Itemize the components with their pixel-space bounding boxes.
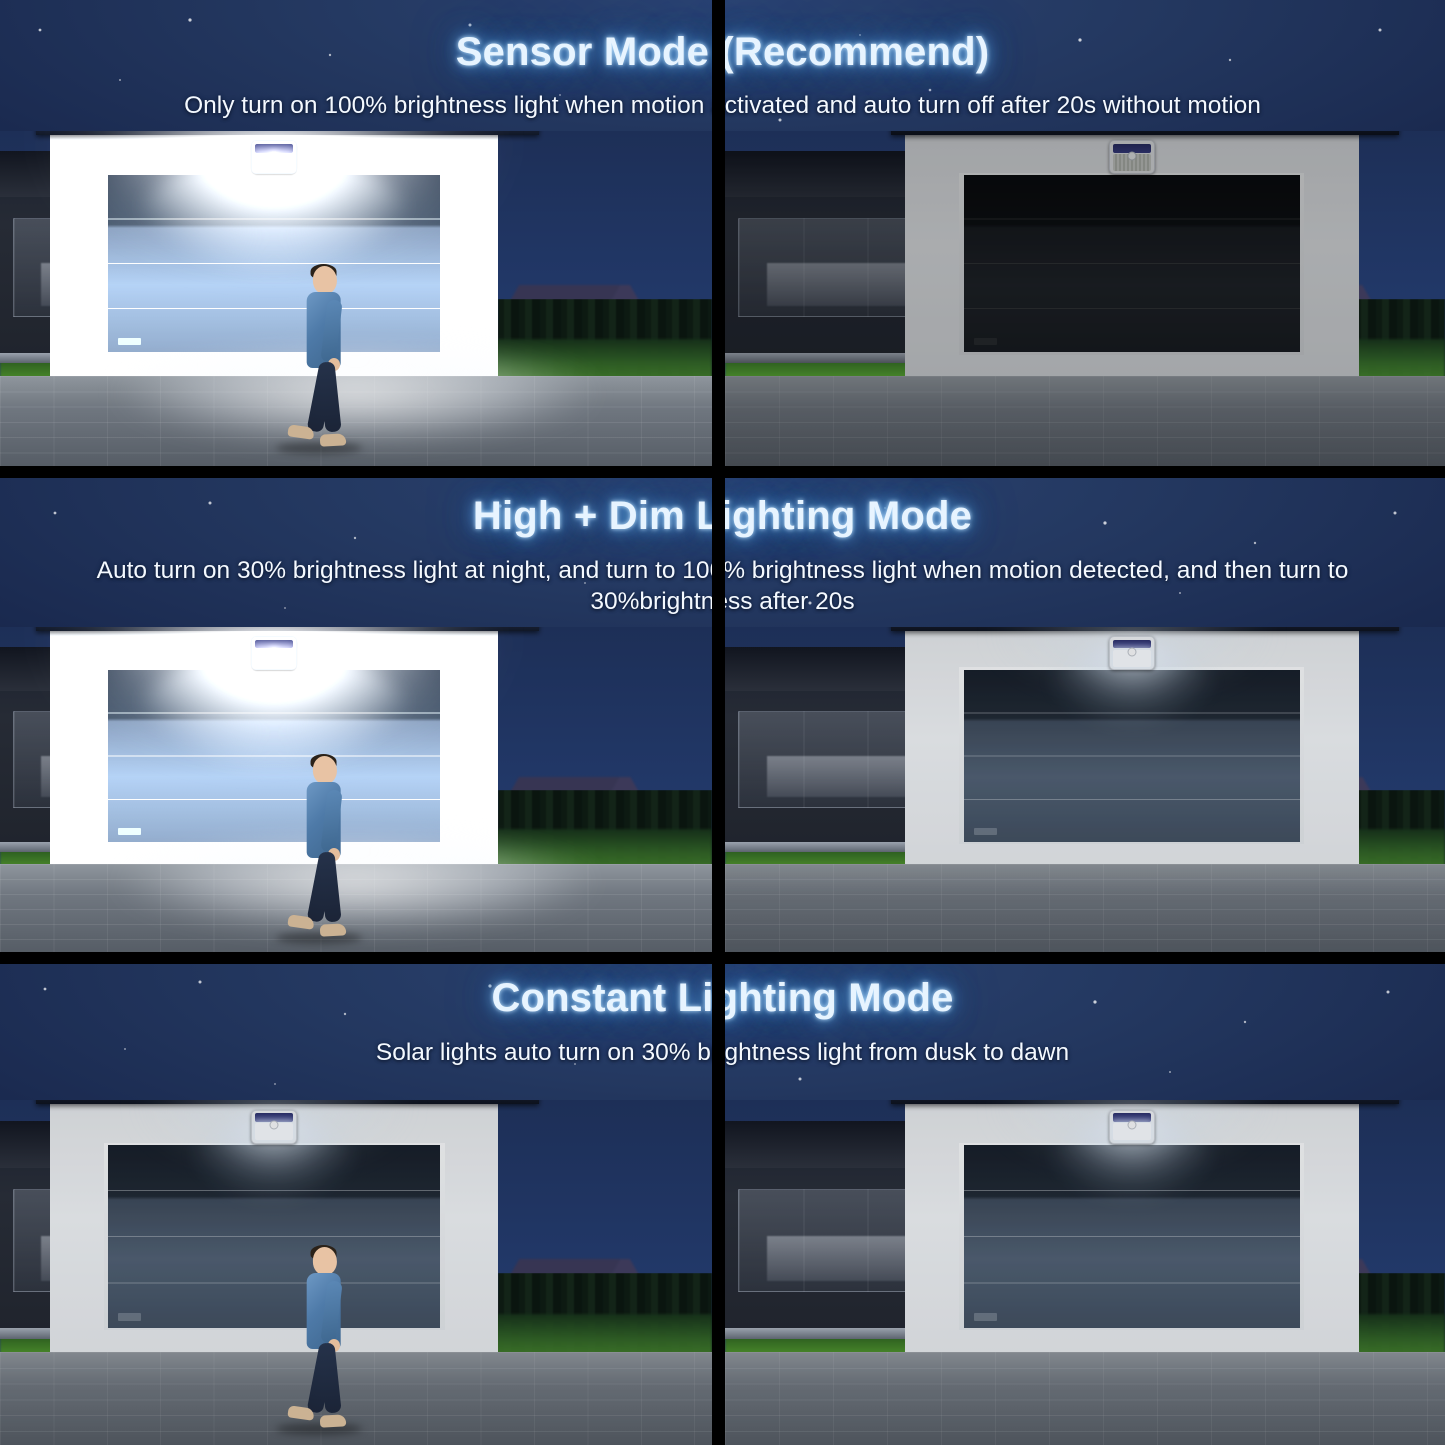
garage-door-panels — [964, 1145, 1300, 1328]
garage-door-panels — [964, 670, 1300, 842]
garage-door-panels — [964, 175, 1300, 353]
roof-eave — [36, 131, 538, 135]
motion-sensor-icon — [270, 152, 279, 161]
solar-light-fixture[interactable] — [251, 1110, 297, 1144]
garage-building — [905, 627, 1359, 881]
garage-building — [50, 1100, 499, 1369]
garage-door-panels — [108, 1145, 440, 1328]
solar-light-fixture[interactable] — [1109, 140, 1155, 174]
garage-scene — [0, 1100, 712, 1445]
panel-divider-vertical — [712, 478, 725, 952]
motion-sensor-icon — [1127, 647, 1136, 656]
driveway-paving — [0, 376, 712, 466]
infographic-board: Sensor Mode (Recommend) Only turn on 100… — [0, 0, 1445, 1445]
solar-light-fixture[interactable] — [1109, 636, 1155, 670]
garage-scene — [725, 1100, 1445, 1445]
roof-eave — [36, 627, 538, 631]
person-shoe-back — [320, 1414, 347, 1427]
solar-light-fixture[interactable] — [1109, 1110, 1155, 1144]
walking-person — [292, 1247, 354, 1423]
driveway-paving — [725, 376, 1445, 466]
garage-scene — [0, 627, 712, 952]
driveway — [725, 1352, 1445, 1445]
garage-door — [964, 670, 1300, 842]
garage-door — [108, 670, 440, 842]
row-divider-1 — [0, 466, 1445, 478]
person-head — [313, 266, 337, 294]
panel-sensor-mode-no-motion — [725, 0, 1445, 466]
mode-row-high-dim-lighting-mode: High + Dim Lighting Mode Auto turn on 30… — [0, 478, 1445, 952]
driveway-paving — [725, 1352, 1445, 1445]
motion-sensor-icon — [1127, 152, 1136, 161]
driveway — [0, 376, 712, 466]
garage-building — [50, 627, 499, 881]
garage-door-frame — [959, 667, 1304, 844]
row-divider-2 — [0, 952, 1445, 964]
driveway — [725, 864, 1445, 952]
mode-row-sensor-mode: Sensor Mode (Recommend) Only turn on 100… — [0, 0, 1445, 466]
mode-row-constant-lighting-mode: Constant Lighting Mode Solar lights auto… — [0, 964, 1445, 1445]
motion-sensor-icon — [1127, 1121, 1136, 1130]
garage-scene — [725, 131, 1445, 466]
garage-scene — [0, 131, 712, 466]
garage-door — [964, 175, 1300, 353]
person-shadow — [276, 442, 362, 454]
motion-sensor-icon — [270, 647, 279, 656]
garage-door-panels — [108, 670, 440, 842]
roof-eave — [891, 627, 1399, 631]
garage-door-frame — [104, 667, 445, 844]
garage-door-frame — [104, 1143, 445, 1331]
garage-building — [50, 131, 499, 392]
person-head — [313, 756, 337, 784]
panel-constant-right — [725, 964, 1445, 1445]
garage-door-badge — [118, 1313, 141, 1320]
panel-sensor-mode-motion-detected — [0, 0, 712, 466]
panel-high-dim-motion-detected — [0, 478, 712, 952]
garage-door-frame — [959, 1143, 1304, 1331]
panel-high-dim-idle — [725, 478, 1445, 952]
garage-door-panels — [108, 175, 440, 353]
roof-eave — [891, 131, 1399, 135]
garage-door-badge — [974, 1313, 998, 1320]
person-shoe-back — [320, 433, 347, 446]
garage-door-frame — [104, 173, 445, 355]
garage-door — [108, 175, 440, 353]
garage-scene — [725, 627, 1445, 952]
panel-divider-vertical — [712, 0, 725, 466]
roof-eave — [891, 1100, 1399, 1104]
motion-sensor-icon — [270, 1121, 279, 1130]
driveway-paving — [725, 864, 1445, 952]
person-head — [313, 1247, 337, 1275]
garage-building — [905, 131, 1359, 392]
garage-door — [964, 1145, 1300, 1328]
garage-door-badge — [974, 338, 998, 345]
roof-eave — [36, 1100, 538, 1104]
garage-door — [108, 1145, 440, 1328]
panel-divider-vertical — [712, 964, 725, 1445]
garage-building — [905, 1100, 1359, 1369]
solar-light-fixture[interactable] — [251, 140, 297, 174]
garage-door-badge — [118, 828, 141, 835]
panel-constant-left — [0, 964, 712, 1445]
garage-door-frame — [959, 173, 1304, 355]
walking-person — [292, 266, 354, 442]
walking-person — [292, 756, 354, 932]
person-shadow — [276, 932, 362, 944]
garage-door-badge — [118, 338, 141, 345]
garage-door-badge — [974, 828, 998, 835]
person-shoe-back — [320, 923, 347, 936]
driveway — [725, 376, 1445, 466]
solar-light-fixture[interactable] — [251, 636, 297, 670]
person-shadow — [276, 1423, 362, 1435]
